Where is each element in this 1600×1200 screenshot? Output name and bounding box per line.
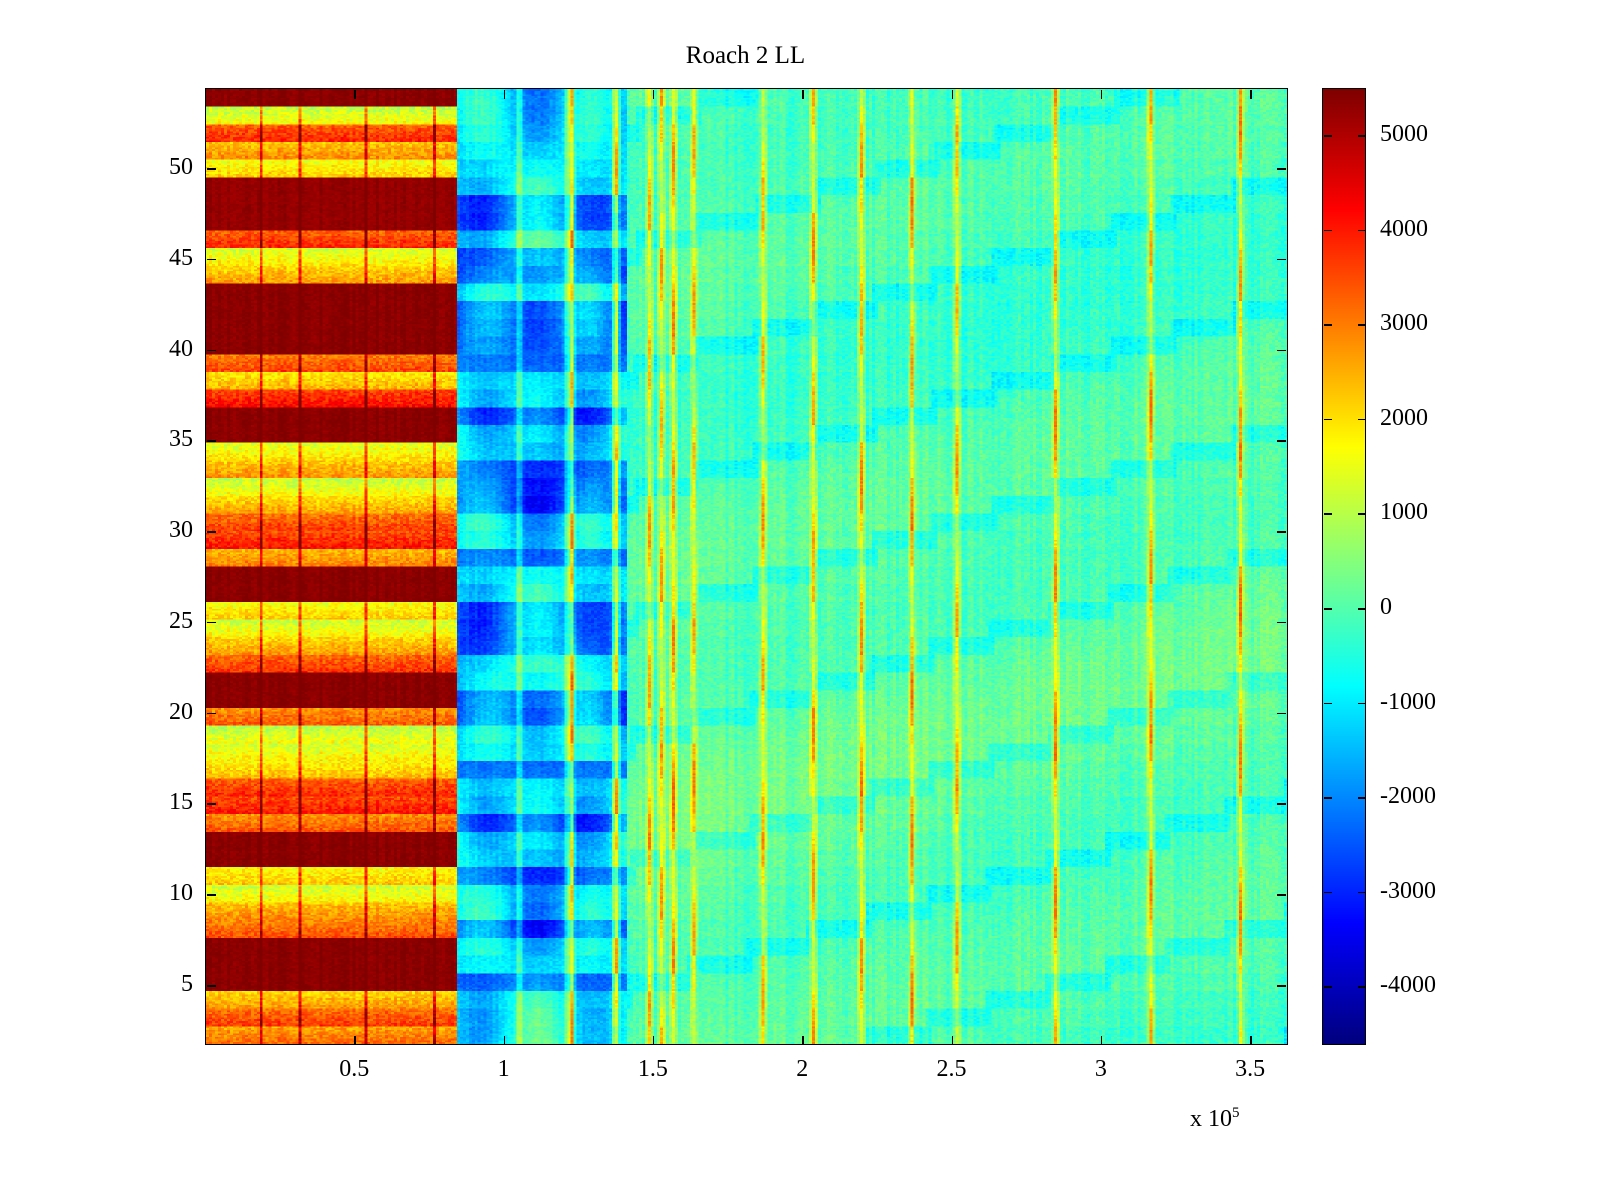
x-tick-mark	[653, 1036, 655, 1045]
y-tick-mark	[207, 440, 216, 442]
x-tick-label: 3.5	[1190, 1057, 1310, 1081]
y-tick-mark	[207, 985, 216, 987]
y-tick-mark	[1277, 713, 1286, 715]
y-tick-label: 15	[95, 790, 193, 814]
x-tick-label: 1.5	[593, 1057, 713, 1081]
colorbar-tick-mark	[1358, 986, 1366, 988]
x-tick-mark	[952, 90, 954, 99]
x-exponent-base: x 10	[1190, 1106, 1232, 1132]
y-tick-mark	[1277, 440, 1286, 442]
colorbar-tick-label: -4000	[1380, 973, 1436, 997]
x-exponent-power: 5	[1232, 1105, 1240, 1121]
y-tick-mark	[1277, 531, 1286, 533]
y-tick-mark	[207, 531, 216, 533]
colorbar-tick-mark	[1358, 797, 1366, 799]
colorbar-tick-mark	[1358, 608, 1366, 610]
y-tick-mark	[207, 713, 216, 715]
y-tick-label: 50	[95, 155, 193, 179]
y-tick-label: 25	[95, 609, 193, 633]
matlab-figure-window: Roach 2 LL 51015202530354045500.511.522.…	[0, 0, 1600, 1200]
y-tick-label: 35	[95, 427, 193, 451]
x-tick-mark	[802, 1036, 804, 1045]
y-tick-mark	[1277, 803, 1286, 805]
y-tick-mark	[207, 259, 216, 261]
x-tick-mark	[354, 90, 356, 99]
x-tick-label: 3	[1041, 1057, 1161, 1081]
colorbar-tick-mark	[1324, 986, 1332, 988]
heatmap-image	[206, 89, 1287, 1044]
y-tick-mark	[1277, 622, 1286, 624]
y-tick-label: 40	[95, 337, 193, 361]
colorbar-tick-label: -3000	[1380, 879, 1436, 903]
y-tick-label: 30	[95, 518, 193, 542]
colorbar-tick-mark	[1358, 419, 1366, 421]
colorbar-tick-mark	[1324, 135, 1332, 137]
y-tick-mark	[207, 622, 216, 624]
page-title: Roach 2 LL	[205, 41, 1286, 71]
x-tick-mark	[653, 90, 655, 99]
colorbar-tick-label: 4000	[1380, 217, 1428, 241]
colorbar-tick-mark	[1324, 513, 1332, 515]
colorbar-tick-label: -2000	[1380, 784, 1436, 808]
colorbar-tick-mark	[1324, 419, 1332, 421]
colorbar-tick-mark	[1358, 135, 1366, 137]
x-tick-mark	[504, 1036, 506, 1045]
colorbar-tick-mark	[1358, 513, 1366, 515]
x-tick-mark	[1250, 1036, 1252, 1045]
colorbar-tick-mark	[1324, 324, 1332, 326]
colorbar-gradient	[1323, 89, 1365, 1044]
y-tick-mark	[1277, 168, 1286, 170]
colorbar-tick-mark	[1358, 230, 1366, 232]
y-tick-mark	[1277, 894, 1286, 896]
colorbar-tick-mark	[1358, 892, 1366, 894]
heatmap-axes[interactable]	[205, 88, 1288, 1045]
y-tick-mark	[207, 168, 216, 170]
colorbar-tick-label: 3000	[1380, 311, 1428, 335]
x-tick-label: 1	[444, 1057, 564, 1081]
colorbar-tick-label: -1000	[1380, 690, 1436, 714]
colorbar-tick-label: 0	[1380, 595, 1392, 619]
y-tick-mark	[1277, 985, 1286, 987]
x-tick-label: 0.5	[294, 1057, 414, 1081]
colorbar-tick-label: 2000	[1380, 406, 1428, 430]
colorbar-tick-mark	[1358, 324, 1366, 326]
x-tick-mark	[504, 90, 506, 99]
x-tick-mark	[802, 90, 804, 99]
y-tick-label: 5	[95, 972, 193, 996]
colorbar-tick-mark	[1324, 797, 1332, 799]
y-tick-mark	[207, 350, 216, 352]
colorbar[interactable]	[1322, 88, 1366, 1045]
colorbar-tick-label: 1000	[1380, 500, 1428, 524]
x-tick-label: 2	[742, 1057, 862, 1081]
x-tick-label: 2.5	[892, 1057, 1012, 1081]
x-tick-mark	[1250, 90, 1252, 99]
colorbar-tick-label: 5000	[1380, 122, 1428, 146]
y-tick-label: 45	[95, 246, 193, 270]
y-tick-mark	[207, 894, 216, 896]
x-tick-mark	[1101, 1036, 1103, 1045]
y-tick-label: 20	[95, 700, 193, 724]
colorbar-tick-mark	[1358, 703, 1366, 705]
x-axis-exponent-label: x 105	[1190, 1105, 1240, 1133]
colorbar-tick-mark	[1324, 230, 1332, 232]
colorbar-tick-mark	[1324, 892, 1332, 894]
colorbar-tick-mark	[1324, 703, 1332, 705]
x-tick-mark	[354, 1036, 356, 1045]
y-tick-mark	[1277, 350, 1286, 352]
y-tick-mark	[1277, 259, 1286, 261]
x-tick-mark	[952, 1036, 954, 1045]
y-tick-mark	[207, 803, 216, 805]
colorbar-tick-mark	[1324, 608, 1332, 610]
y-tick-label: 10	[95, 881, 193, 905]
x-tick-mark	[1101, 90, 1103, 99]
